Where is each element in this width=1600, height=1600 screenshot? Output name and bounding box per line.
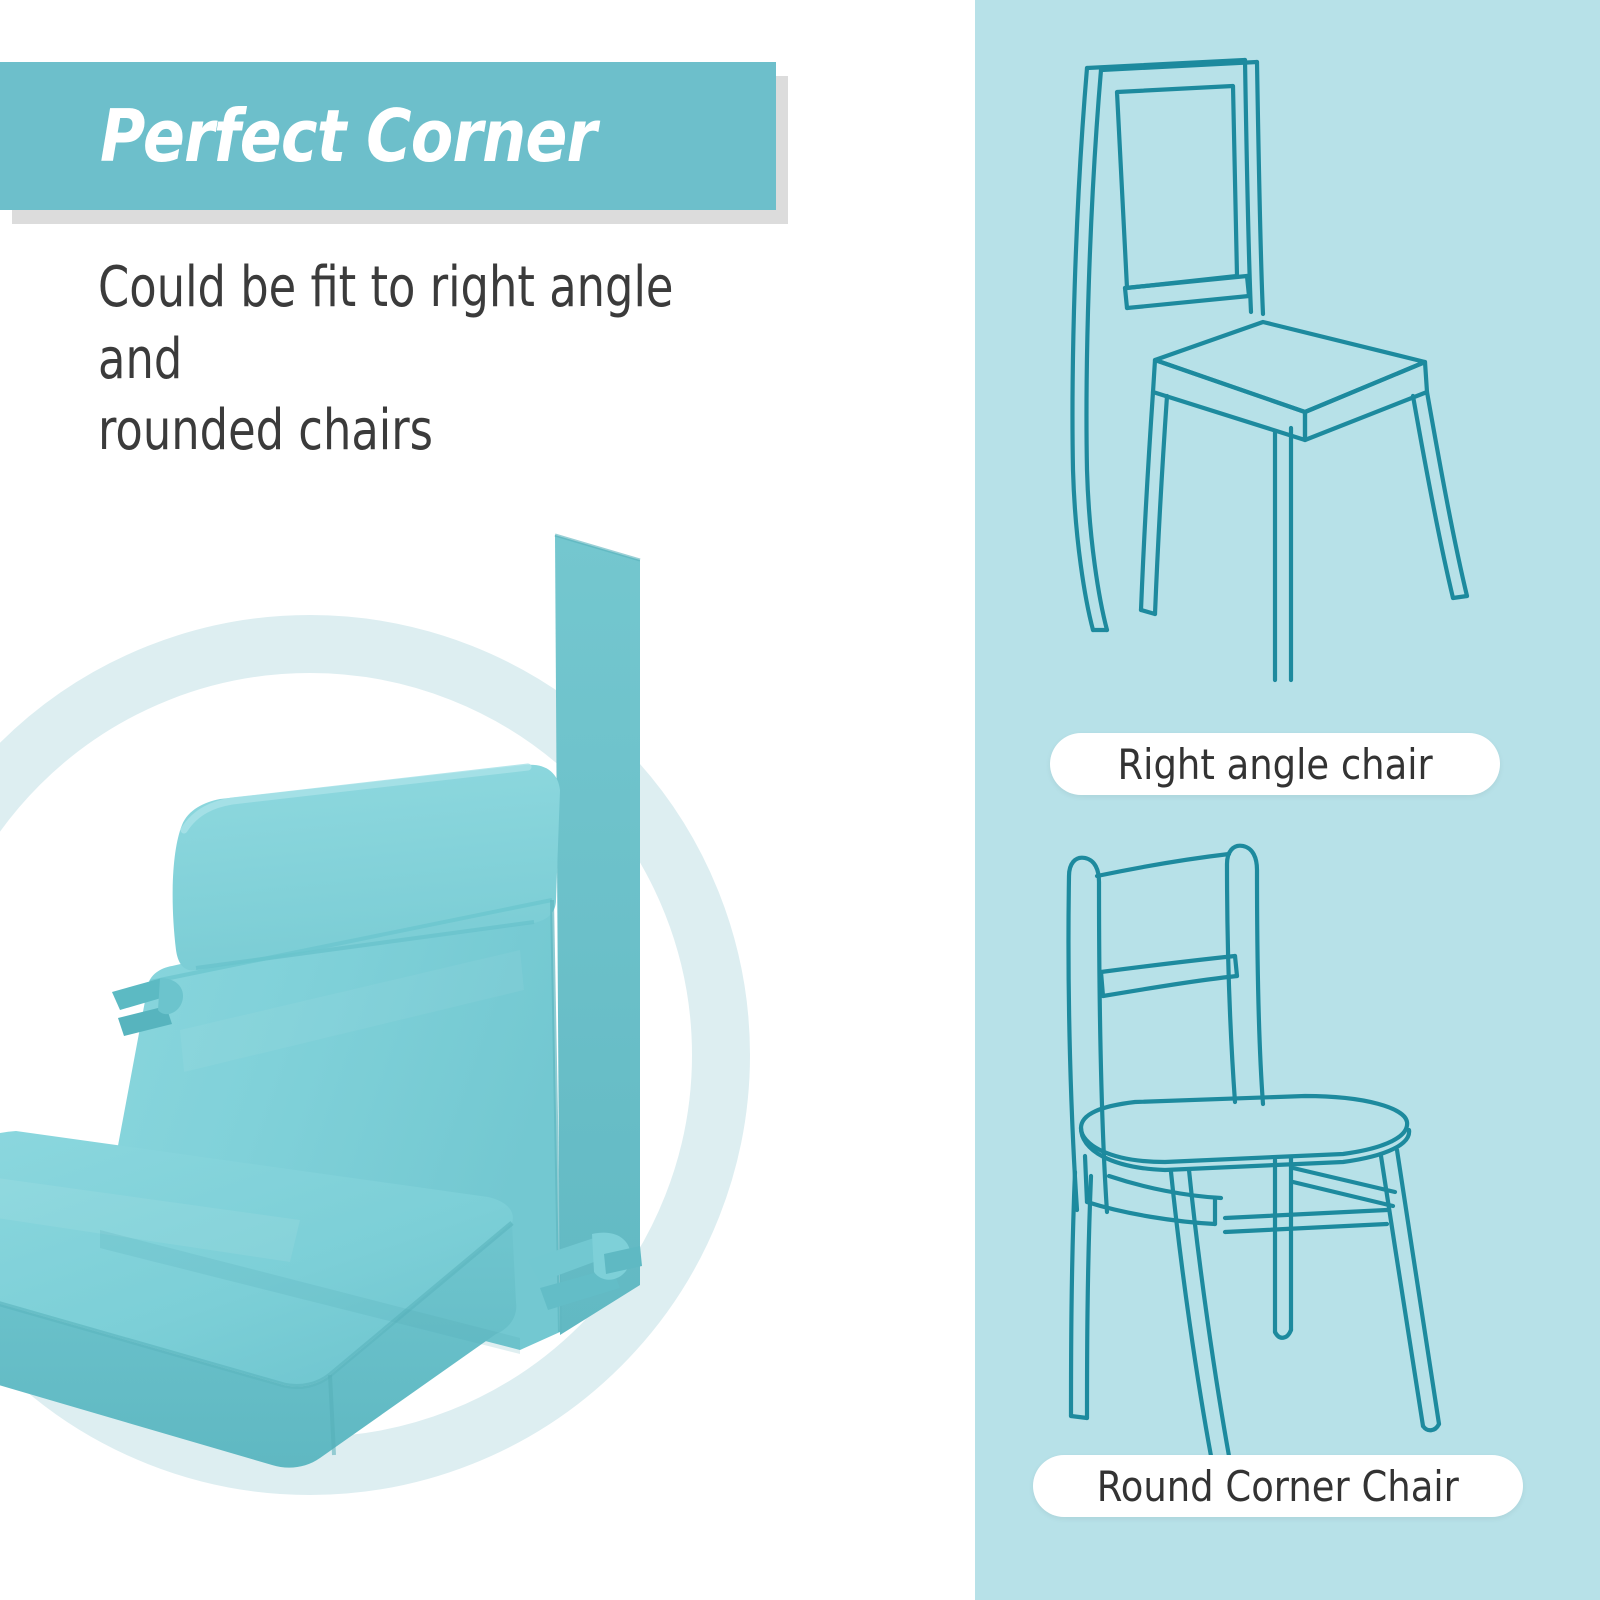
left-panel: Perfect Corner Could be fit to right ang… bbox=[0, 0, 975, 1600]
round-corner-chair-illustration bbox=[975, 820, 1600, 1460]
subtitle-text: Could be fit to right angle and rounded … bbox=[98, 252, 738, 467]
label-right-angle-chair: Right angle chair bbox=[1050, 733, 1500, 795]
cushion-back-side-panel bbox=[555, 535, 640, 1335]
label-round-corner-chair-text: Round Corner Chair bbox=[1097, 1462, 1459, 1511]
page-title: Perfect Corner bbox=[100, 94, 596, 178]
right-panel bbox=[975, 0, 1600, 1600]
label-right-angle-chair-text: Right angle chair bbox=[1117, 740, 1432, 789]
infographic-page: Perfect Corner Could be fit to right ang… bbox=[0, 0, 1600, 1600]
title-banner: Perfect Corner bbox=[0, 62, 776, 210]
banner-block: Perfect Corner bbox=[0, 62, 776, 210]
chair-cushion-photo bbox=[0, 430, 760, 1490]
label-round-corner-chair: Round Corner Chair bbox=[1033, 1455, 1523, 1517]
right-angle-chair-illustration bbox=[975, 40, 1600, 700]
